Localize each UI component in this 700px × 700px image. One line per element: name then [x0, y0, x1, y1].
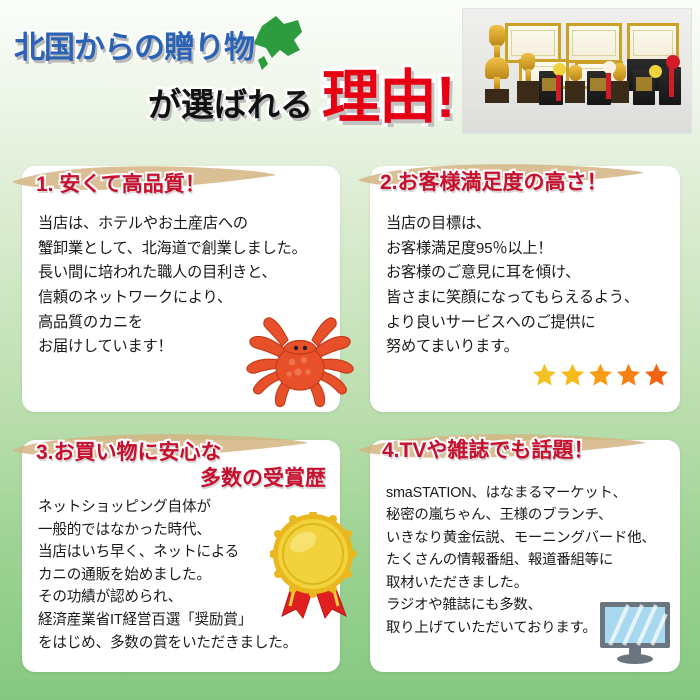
panel-3-line-2: 一般的ではなかった時代、: [38, 519, 297, 542]
panel-2-body: 当店の目標は、 お客様満足度95％以上！ お客様のご意見に耳を傾け、 皆さまに笑…: [386, 212, 639, 360]
panel-1-heading: 1. 安くて高品質！: [36, 168, 206, 198]
banner-header: 北国からの贈り物 が選ばれる 理由!: [0, 0, 700, 145]
reason-panel-2: 2.お客様満足度の高さ！ 当店の目標は、 お客様満足度95％以上！ お客様のご意…: [370, 166, 680, 412]
panel-4-line-2: 秘密の嵐ちゃん、王様のブランチ、: [386, 504, 656, 526]
star-icon-1: [532, 362, 557, 387]
television-icon: [598, 600, 672, 666]
reason-panel-3: 3.お買い物に安心な 多数の受賞歴 ネットショッピング自体が 一般的ではなかった…: [22, 440, 340, 672]
panel-2-line-6: 努めてまいります。: [386, 335, 639, 360]
panel-4-line-4: たくさんの情報番組、報道番組等に: [386, 549, 656, 571]
panel-3-line-3: 当店はいち早く、ネットによる: [38, 541, 297, 564]
reason-panel-1: 1. 安くて高品質！ 当店は、ホテルやお土産店への 蟹卸業として、北海道で創業し…: [22, 166, 340, 412]
brand-logo-text: 北国からの贈り物: [14, 22, 254, 67]
panel-2-line-2: お客様満足度95％以上！: [386, 237, 639, 262]
star-icon-5: [644, 362, 669, 387]
panel-3-heading-line2: 多数の受賞歴: [200, 462, 326, 492]
gold-medal-rosette-icon: [270, 512, 358, 620]
panel-4-heading: 4.TVや雑誌でも話題！: [382, 434, 594, 464]
panel-3-heading: 3.お買い物に安心な: [36, 436, 222, 466]
panel-3-line-6: 経済産業省IT経営百選「奨励賞」: [38, 609, 297, 632]
panel-1-line-2: 蟹卸業として、北海道で創業しました。: [38, 237, 307, 262]
hokkaido-map-icon: [232, 10, 308, 82]
star-rating: [532, 362, 669, 387]
panel-2-heading: 2.お客様満足度の高さ！: [380, 166, 608, 196]
panel-3-line-7: をはじめ、多数の賞をいただきました。: [38, 632, 297, 655]
king-crab-illustration: [244, 308, 356, 412]
brand-logo: 北国からの贈り物: [14, 18, 314, 84]
panel-1-line-3: 長い間に培われた職人の目利きと、: [38, 261, 307, 286]
reason-panel-4: 4.TVや雑誌でも話題！ smaSTATION、はなまるマーケット、 秘密の嵐ち…: [370, 440, 680, 672]
panel-1-line-1: 当店は、ホテルやお土産店への: [38, 212, 307, 237]
panel-4-line-3: いきなり黄金伝説、モーニングバード他、: [386, 527, 656, 549]
panel-2-line-3: お客様のご意見に耳を傾け、: [386, 261, 639, 286]
panel-4-line-5: 取材いただきました。: [386, 572, 656, 594]
header-subtitle: が選ばれる: [148, 78, 313, 126]
panel-4-line-1: smaSTATION、はなまるマーケット、: [386, 482, 656, 504]
promo-banner: 北国からの贈り物 が選ばれる 理由!: [0, 0, 700, 700]
trophy-photo: [462, 8, 692, 134]
star-icon-3: [588, 362, 613, 387]
panel-3-body: ネットショッピング自体が 一般的ではなかった時代、 当店はいち早く、ネットによる…: [38, 496, 297, 654]
star-icon-2: [560, 362, 585, 387]
star-icon-4: [616, 362, 641, 387]
panel-2-line-5: より良いサービスへのご提供に: [386, 311, 639, 336]
panel-1-line-4: 信頼のネットワークにより、: [38, 286, 307, 311]
header-headline: 理由!: [322, 50, 454, 134]
panel-3-line-4: カニの通販を始めました。: [38, 564, 297, 587]
panel-2-line-1: 当店の目標は、: [386, 212, 639, 237]
panel-3-line-5: その功績が認められ、: [38, 586, 297, 609]
panel-3-line-1: ネットショッピング自体が: [38, 496, 297, 519]
panel-2-line-4: 皆さまに笑顔になってもらえるよう、: [386, 286, 639, 311]
